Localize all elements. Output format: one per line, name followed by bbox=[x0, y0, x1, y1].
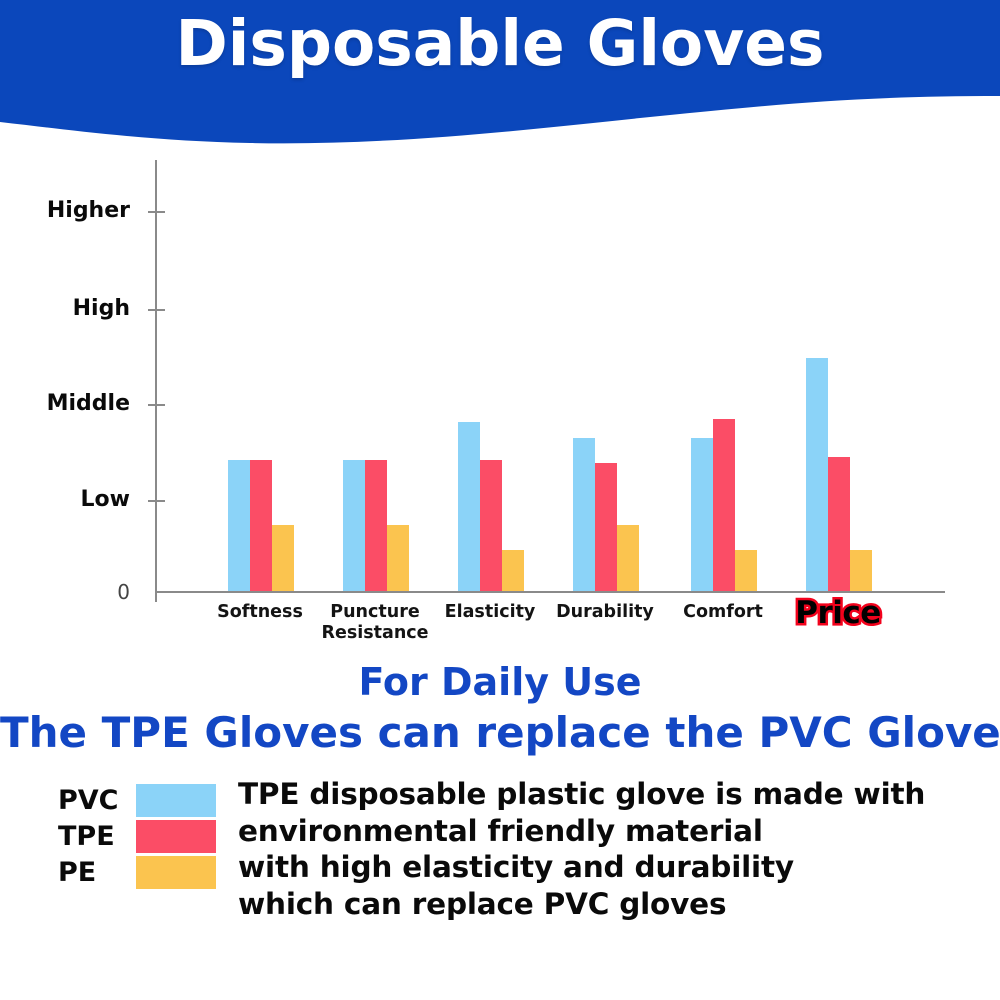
legend-item-pvc: PVC bbox=[58, 782, 218, 818]
bar-elasticity-pe bbox=[502, 550, 524, 591]
x-label-price: Price bbox=[768, 595, 908, 632]
page-title: Disposable Gloves bbox=[0, 12, 1000, 75]
bar-durability-pvc bbox=[573, 438, 595, 591]
legend-swatch-tpe bbox=[136, 820, 216, 853]
y-tick-low bbox=[148, 500, 165, 502]
legend-description: TPE disposable plastic glove is made wit… bbox=[238, 776, 978, 922]
legend-item-tpe: TPE bbox=[58, 818, 218, 854]
legend: PVC TPE PE TPE disposable plastic glove … bbox=[0, 780, 1000, 930]
bar-comfort-pvc bbox=[691, 438, 713, 591]
bar-softness-pe bbox=[272, 525, 294, 591]
y-label-low: Low bbox=[10, 489, 130, 511]
bar-price-pe bbox=[850, 550, 872, 591]
plot-area: Higher High Middle Low 0 Softness Punctu… bbox=[0, 150, 1000, 660]
bar-comfort-pe bbox=[735, 550, 757, 591]
legend-label-pvc: PVC bbox=[58, 787, 136, 814]
y-label-higher: Higher bbox=[10, 200, 130, 222]
y-axis-line bbox=[155, 160, 157, 602]
legend-description-line-2: environmental friendly material bbox=[238, 813, 978, 850]
y-tick-higher bbox=[148, 211, 165, 213]
legend-label-pe: PE bbox=[58, 859, 136, 886]
y-tick-middle bbox=[148, 404, 165, 406]
bar-price-tpe bbox=[828, 457, 850, 591]
bar-elasticity-tpe bbox=[480, 460, 502, 591]
legend-item-pe: PE bbox=[58, 854, 218, 890]
legend-swatch-pvc bbox=[136, 784, 216, 817]
bar-price-pvc bbox=[806, 358, 828, 591]
tagline-replace-pvc: The TPE Gloves can replace the PVC Glove… bbox=[0, 712, 1000, 754]
bar-comfort-tpe bbox=[713, 419, 735, 591]
legend-swatch-pe bbox=[136, 856, 216, 889]
bar-puncture-tpe bbox=[365, 460, 387, 591]
bar-durability-tpe bbox=[595, 463, 617, 591]
legend-description-line-4: which can replace PVC gloves bbox=[238, 886, 978, 923]
bar-durability-pe bbox=[617, 525, 639, 591]
bar-puncture-pvc bbox=[343, 460, 365, 591]
x-axis-line bbox=[155, 591, 945, 593]
bar-softness-pvc bbox=[228, 460, 250, 591]
bar-elasticity-pvc bbox=[458, 422, 480, 591]
bar-puncture-pe bbox=[387, 525, 409, 591]
tagline-daily-use: For Daily Use bbox=[0, 663, 1000, 701]
y-label-high: High bbox=[10, 298, 130, 320]
legend-description-line-3: with high elasticity and durability bbox=[238, 849, 978, 886]
bar-softness-tpe bbox=[250, 460, 272, 591]
bar-chart: Higher High Middle Low 0 Softness Punctu… bbox=[0, 150, 1000, 660]
y-label-zero: 0 bbox=[10, 582, 130, 602]
legend-key-list: PVC TPE PE bbox=[58, 782, 218, 890]
y-label-middle: Middle bbox=[10, 393, 130, 415]
y-tick-high bbox=[148, 309, 165, 311]
header-banner: Disposable Gloves bbox=[0, 0, 1000, 150]
infographic-page: Disposable Gloves Higher High Middle Low… bbox=[0, 0, 1000, 1000]
legend-description-line-1: TPE disposable plastic glove is made wit… bbox=[238, 776, 978, 813]
legend-label-tpe: TPE bbox=[58, 823, 136, 850]
